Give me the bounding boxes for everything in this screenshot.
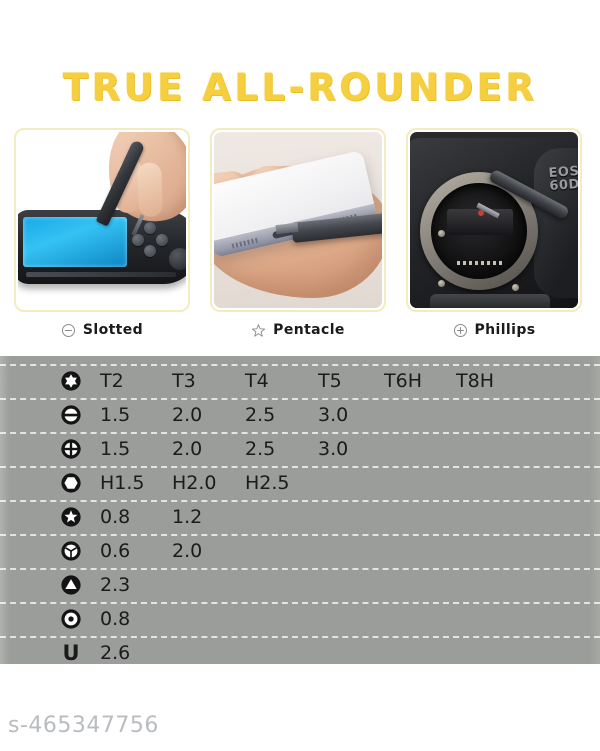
- table-cell: 2.6: [100, 642, 130, 664]
- row-bit-type-icon: [60, 472, 82, 494]
- table-row: T2T3T4T5T6HT8H: [0, 364, 600, 398]
- table-cell: 0.8: [100, 506, 130, 528]
- mount-screw: [438, 230, 445, 237]
- row-bit-type-icon: [60, 574, 82, 596]
- table-cell: H2.0: [172, 472, 217, 494]
- triangle-icon: [60, 574, 82, 596]
- row-bit-type-icon: [60, 404, 82, 426]
- watermark-text: s-465347756: [8, 713, 159, 738]
- camera-body: EOS 60D: [410, 138, 578, 308]
- handheld-console-scene: [18, 132, 186, 308]
- slotted-icon: [61, 323, 76, 338]
- row-bit-type-icon: [60, 540, 82, 562]
- console-front-strip: [26, 272, 176, 277]
- table-cell: T8H: [456, 370, 494, 392]
- camera-mirror-box: [431, 183, 527, 279]
- dpad-button-up: [144, 222, 156, 234]
- row-bit-type-icon: [60, 370, 82, 392]
- pentacle-icon: [251, 323, 266, 338]
- table-row: 1.52.02.53.0: [0, 432, 600, 466]
- mount-screw: [512, 284, 519, 291]
- table-cell: 2.0: [172, 404, 202, 426]
- table-cell: 2.5: [245, 404, 275, 426]
- table-row: 0.62.0: [0, 534, 600, 568]
- pentalobe-icon: [60, 506, 82, 528]
- product-image-card-dslr-camera: EOS 60D: [406, 128, 582, 312]
- finger: [137, 162, 163, 217]
- table-row: H1.5H2.0H2.5: [0, 466, 600, 500]
- table-cell: T3: [172, 370, 196, 392]
- dot-icon: [60, 608, 82, 630]
- row-bit-type-icon: [60, 506, 82, 528]
- table-cell: H1.5: [100, 472, 145, 494]
- table-cell: 0.8: [100, 608, 130, 630]
- table-cell: 3.0: [318, 404, 348, 426]
- table-cell: T2: [100, 370, 124, 392]
- table-cell: 2.3: [100, 574, 130, 596]
- u-letter: U: [62, 643, 79, 664]
- table-cell: 0.6: [100, 540, 130, 562]
- table-row: 0.81.2: [0, 500, 600, 534]
- console-screen: [23, 217, 127, 267]
- camera-model-line-2: 60D: [549, 178, 578, 193]
- caption-row: Slotted Pentacle Phillips: [0, 316, 600, 344]
- row-separator: [0, 670, 600, 672]
- dpad-button-left: [132, 234, 144, 246]
- dpad-button-right: [156, 234, 168, 246]
- camera-lens-contacts: [457, 261, 503, 265]
- handheld-console-photo: [18, 132, 186, 308]
- caption-pentacle: Pentacle: [200, 316, 396, 344]
- table-cell: T4: [245, 370, 269, 392]
- table-row: 2.3: [0, 568, 600, 602]
- table-cell: 2.0: [172, 540, 202, 562]
- row-bit-type-icon: [60, 438, 82, 460]
- table-cell: 2.5: [245, 438, 275, 460]
- smartphone-speaker-grill-left: [231, 237, 259, 248]
- camera-base: [430, 294, 550, 308]
- console-analog-knob: [169, 248, 186, 270]
- product-image-card-smartphone: [210, 128, 386, 312]
- caption-slotted: Slotted: [4, 316, 200, 344]
- slotted-icon: [60, 404, 82, 426]
- phillips-icon: [60, 438, 82, 460]
- table-cell: T6H: [384, 370, 422, 392]
- page-title-container: TRUE ALL-ROUNDER: [0, 66, 600, 109]
- torx-icon: [60, 370, 82, 392]
- table-cell: 1.5: [100, 404, 130, 426]
- mount-screw: [438, 280, 445, 287]
- row-bit-type-icon: U: [60, 642, 82, 664]
- triwing-icon: [60, 540, 82, 562]
- caption-pentacle-label: Pentacle: [273, 322, 345, 338]
- product-image-card-handheld-console: [14, 128, 190, 312]
- camera-model-label: EOS 60D: [548, 165, 578, 193]
- table-cell: 3.0: [318, 438, 348, 460]
- bit-size-spec-table: T2T3T4T5T6HT8H1.52.02.53.01.52.02.53.0H1…: [0, 356, 600, 664]
- table-row: 1.52.02.53.0: [0, 398, 600, 432]
- dpad-button-down: [144, 245, 156, 257]
- table-cell: H2.5: [245, 472, 290, 494]
- page-title: TRUE ALL-ROUNDER: [63, 66, 538, 109]
- table-cell: 2.0: [172, 438, 202, 460]
- caption-slotted-label: Slotted: [83, 322, 143, 338]
- phillips-icon: [453, 323, 468, 338]
- dslr-camera-scene: EOS 60D: [410, 132, 578, 308]
- table-cell: 1.2: [172, 506, 202, 528]
- dslr-camera-photo: EOS 60D: [410, 132, 578, 308]
- table-cell: 1.5: [100, 438, 130, 460]
- product-image-gallery: EOS 60D: [0, 128, 600, 312]
- smartphone-photo: [214, 132, 382, 308]
- table-rows-container: T2T3T4T5T6HT8H1.52.02.53.01.52.02.53.0H1…: [0, 356, 600, 664]
- hex-icon: [60, 472, 82, 494]
- caption-phillips-label: Phillips: [475, 322, 536, 338]
- table-row: U2.6: [0, 636, 600, 670]
- row-bit-type-icon: [60, 608, 82, 630]
- caption-phillips: Phillips: [396, 316, 592, 344]
- smartphone-scene: [214, 132, 382, 308]
- table-cell: T5: [318, 370, 342, 392]
- table-row: 0.8: [0, 602, 600, 636]
